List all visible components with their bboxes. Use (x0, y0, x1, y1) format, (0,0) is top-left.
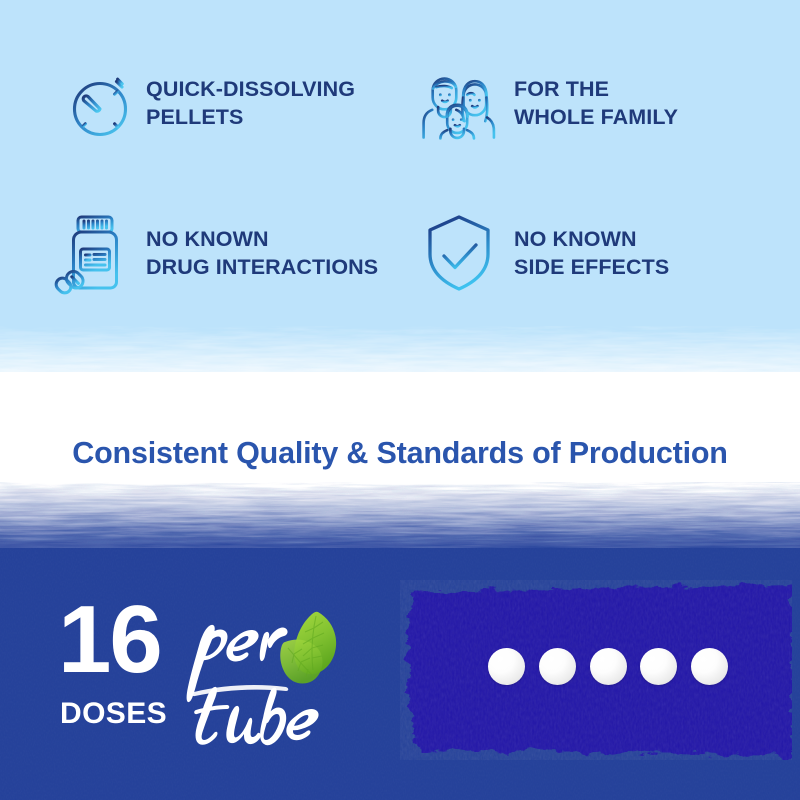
benefit-label-no-drug-interactions: NO KNOWN DRUG INTERACTIONS (146, 225, 378, 282)
pill-bottle-icon (52, 213, 130, 293)
pellet-showcase (400, 580, 792, 760)
benefit-grid: QUICK-DISSOLVING PELLETS (0, 28, 800, 348)
benefit-line-2: SIDE EFFECTS (514, 253, 669, 281)
benefit-item-whole-family: FOR THE WHOLE FAMILY (400, 28, 800, 178)
benefit-line-1: NO KNOWN (146, 225, 378, 253)
benefit-line-1: QUICK-DISSOLVING (146, 75, 355, 103)
pellet-sphere (590, 648, 627, 685)
product-benefits-poster: QUICK-DISSOLVING PELLETS (0, 0, 800, 800)
dose-count: 16 (58, 592, 161, 688)
benefit-line-1: FOR THE (514, 75, 678, 103)
leaf-icon (274, 606, 346, 686)
benefit-line-2: DRUG INTERACTIONS (146, 253, 378, 281)
page-title: Consistent Quality & Standards of Produc… (0, 436, 800, 471)
benefit-item-no-drug-interactions: NO KNOWN DRUG INTERACTIONS (0, 178, 400, 328)
family-icon (420, 63, 498, 143)
pellet-sphere (691, 648, 728, 685)
benefit-line-2: PELLETS (146, 103, 355, 131)
benefit-line-1: NO KNOWN (514, 225, 669, 253)
dosage-panel: 16 DOSES (0, 548, 800, 800)
pellet-sphere (488, 648, 525, 685)
benefit-line-2: WHOLE FAMILY (514, 103, 678, 131)
stopwatch-icon (52, 63, 130, 143)
pellet-sphere (539, 648, 576, 685)
pellet-sphere (640, 648, 677, 685)
benefit-label-no-side-effects: NO KNOWN SIDE EFFECTS (514, 225, 669, 282)
dose-unit-label: DOSES (60, 697, 167, 731)
shield-check-icon (420, 213, 498, 293)
pellet-row (488, 640, 728, 692)
dosage-count-block: 16 DOSES (58, 600, 388, 760)
benefit-label-whole-family: FOR THE WHOLE FAMILY (514, 75, 678, 132)
headline-band: Consistent Quality & Standards of Produc… (0, 372, 800, 540)
benefit-item-no-side-effects: NO KNOWN SIDE EFFECTS (400, 178, 800, 328)
benefit-label-quick-dissolving: QUICK-DISSOLVING PELLETS (146, 75, 355, 132)
benefits-panel: QUICK-DISSOLVING PELLETS (0, 0, 800, 372)
benefit-item-quick-dissolving: QUICK-DISSOLVING PELLETS (0, 28, 400, 178)
